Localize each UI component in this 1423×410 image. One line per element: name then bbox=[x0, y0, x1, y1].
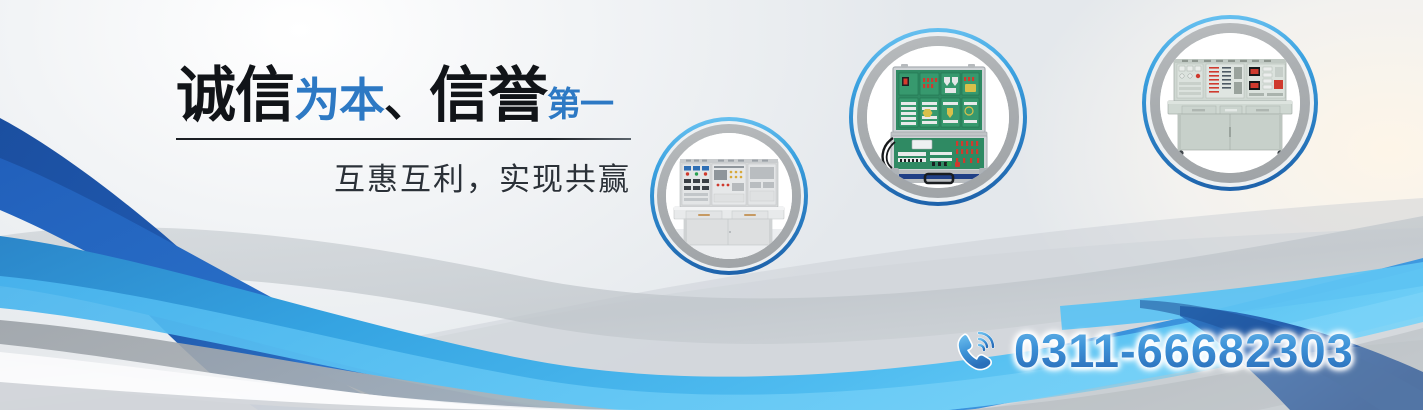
product-circle-1[interactable] bbox=[650, 117, 808, 275]
page-title: 诚信为本、信誉第一 bbox=[176, 66, 636, 126]
headline-part-5: 第一 bbox=[547, 86, 613, 124]
headline-part-4: 信誉 bbox=[429, 62, 547, 129]
product-photo-1 bbox=[666, 133, 792, 259]
phone-number[interactable]: 0311-66682303 bbox=[1014, 327, 1354, 374]
headline-block: 诚信为本、信誉第一 互惠互利，实现共赢 bbox=[176, 66, 636, 199]
headline-subtitle: 互惠互利，实现共赢 bbox=[176, 154, 631, 199]
promo-banner: 诚信为本、信誉第一 互惠互利，实现共赢 bbox=[0, 0, 1423, 410]
headline-separator: 、 bbox=[384, 74, 429, 126]
product-circle-2[interactable] bbox=[849, 28, 1027, 206]
headline-part-1: 诚信 bbox=[176, 62, 294, 129]
product-circle-3[interactable] bbox=[1142, 15, 1318, 191]
headline-divider bbox=[176, 138, 631, 140]
phone-call-icon bbox=[952, 326, 1000, 374]
product-photo-3 bbox=[1160, 33, 1300, 173]
product-photo-2 bbox=[867, 46, 1009, 188]
headline-part-2: 为本 bbox=[294, 74, 384, 126]
contact-block[interactable]: 0311-66682303 bbox=[952, 326, 1354, 374]
